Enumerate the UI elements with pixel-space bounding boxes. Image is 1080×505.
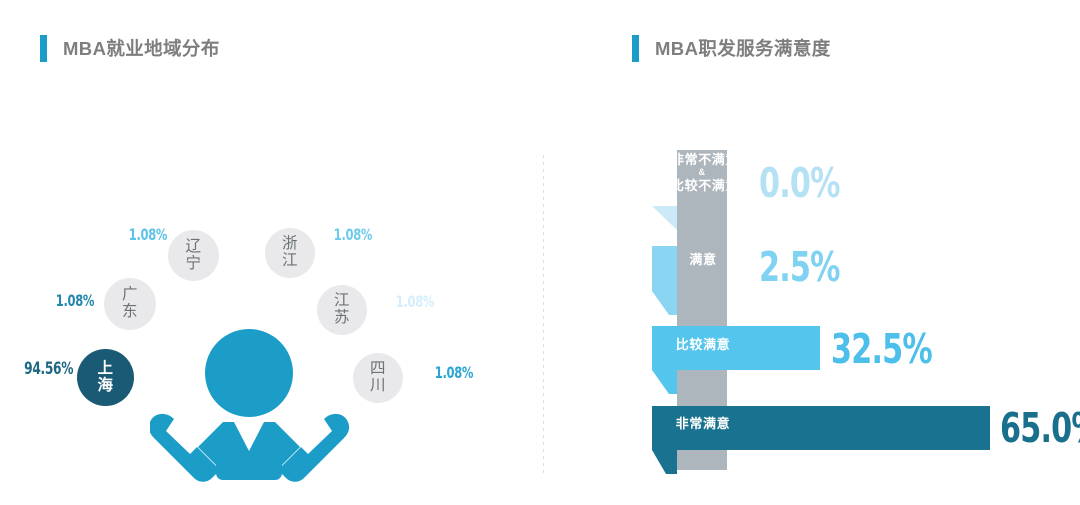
bubble-zhejiang: 浙江	[265, 228, 315, 278]
funnel-row-0-label-amp: &	[671, 168, 733, 178]
value-guangdong: 1.08%	[56, 291, 94, 310]
bubble-guangdong: 广东	[104, 278, 156, 330]
bubble-liaoning-label: 辽宁	[185, 239, 201, 272]
funnel-row-3-label-line1: 非常满意	[676, 416, 730, 431]
slide-canvas: MBA就业地域分布 MBA职发服务满意度 上海 94.56% 广东 1.08% …	[0, 0, 1080, 505]
funnel-row-1-tail	[652, 291, 677, 315]
funnel-row-0-value: 0.0%	[759, 159, 840, 207]
title-accent-bar	[632, 35, 639, 62]
funnel-row-0-label-line2: 比较不满意	[671, 178, 739, 193]
value-liaoning: 1.08%	[129, 225, 167, 244]
right-panel-title-text: MBA职发服务满意度	[655, 35, 831, 61]
funnel-row-0-label: 非常不满意 & 比较不满意	[671, 152, 733, 194]
value-zhejiang: 1.08%	[334, 225, 372, 244]
funnel-row-2-label: 比较满意	[672, 337, 734, 353]
bubble-shanghai-label: 上海	[97, 361, 113, 394]
title-accent-bar	[40, 35, 47, 62]
left-panel-title: MBA就业地域分布	[40, 33, 220, 63]
bubble-guangdong-label: 广东	[122, 287, 138, 320]
bubble-liaoning: 辽宁	[168, 230, 219, 281]
funnel-row-1-label-line1: 满意	[689, 252, 716, 267]
bubble-sichuan: 四川	[353, 353, 403, 403]
funnel-row-3-value: 65.0%	[1000, 404, 1080, 452]
funnel-row-0-label-line1: 非常不满意	[671, 152, 739, 167]
funnel-row-1-value: 2.5%	[759, 243, 840, 291]
funnel-row-3-label: 非常满意	[672, 416, 734, 432]
left-panel-title-text: MBA就业地域分布	[63, 35, 220, 61]
funnel-row-2-value: 32.5%	[831, 325, 932, 373]
funnel-row-0	[652, 206, 677, 230]
person-presenting-icon	[150, 325, 350, 490]
funnel-row-2-label-line1: 比较满意	[676, 337, 730, 352]
bubble-sichuan-label: 四川	[370, 361, 386, 394]
funnel-row-2-tail	[652, 370, 677, 394]
right-panel-title: MBA职发服务满意度	[632, 33, 831, 63]
value-sichuan: 1.08%	[435, 363, 473, 382]
value-shanghai: 94.56%	[24, 359, 73, 379]
bubble-shanghai: 上海	[77, 349, 134, 406]
funnel-row-3-tail	[652, 450, 677, 474]
funnel-row-0-tail	[652, 206, 677, 230]
bubble-zhejiang-label: 浙江	[282, 236, 298, 269]
bubble-jiangsu-label: 江苏	[334, 293, 350, 326]
funnel-row-1-label: 满意	[672, 252, 734, 268]
panel-divider	[543, 155, 544, 473]
value-jiangsu: 1.08%	[396, 292, 434, 311]
